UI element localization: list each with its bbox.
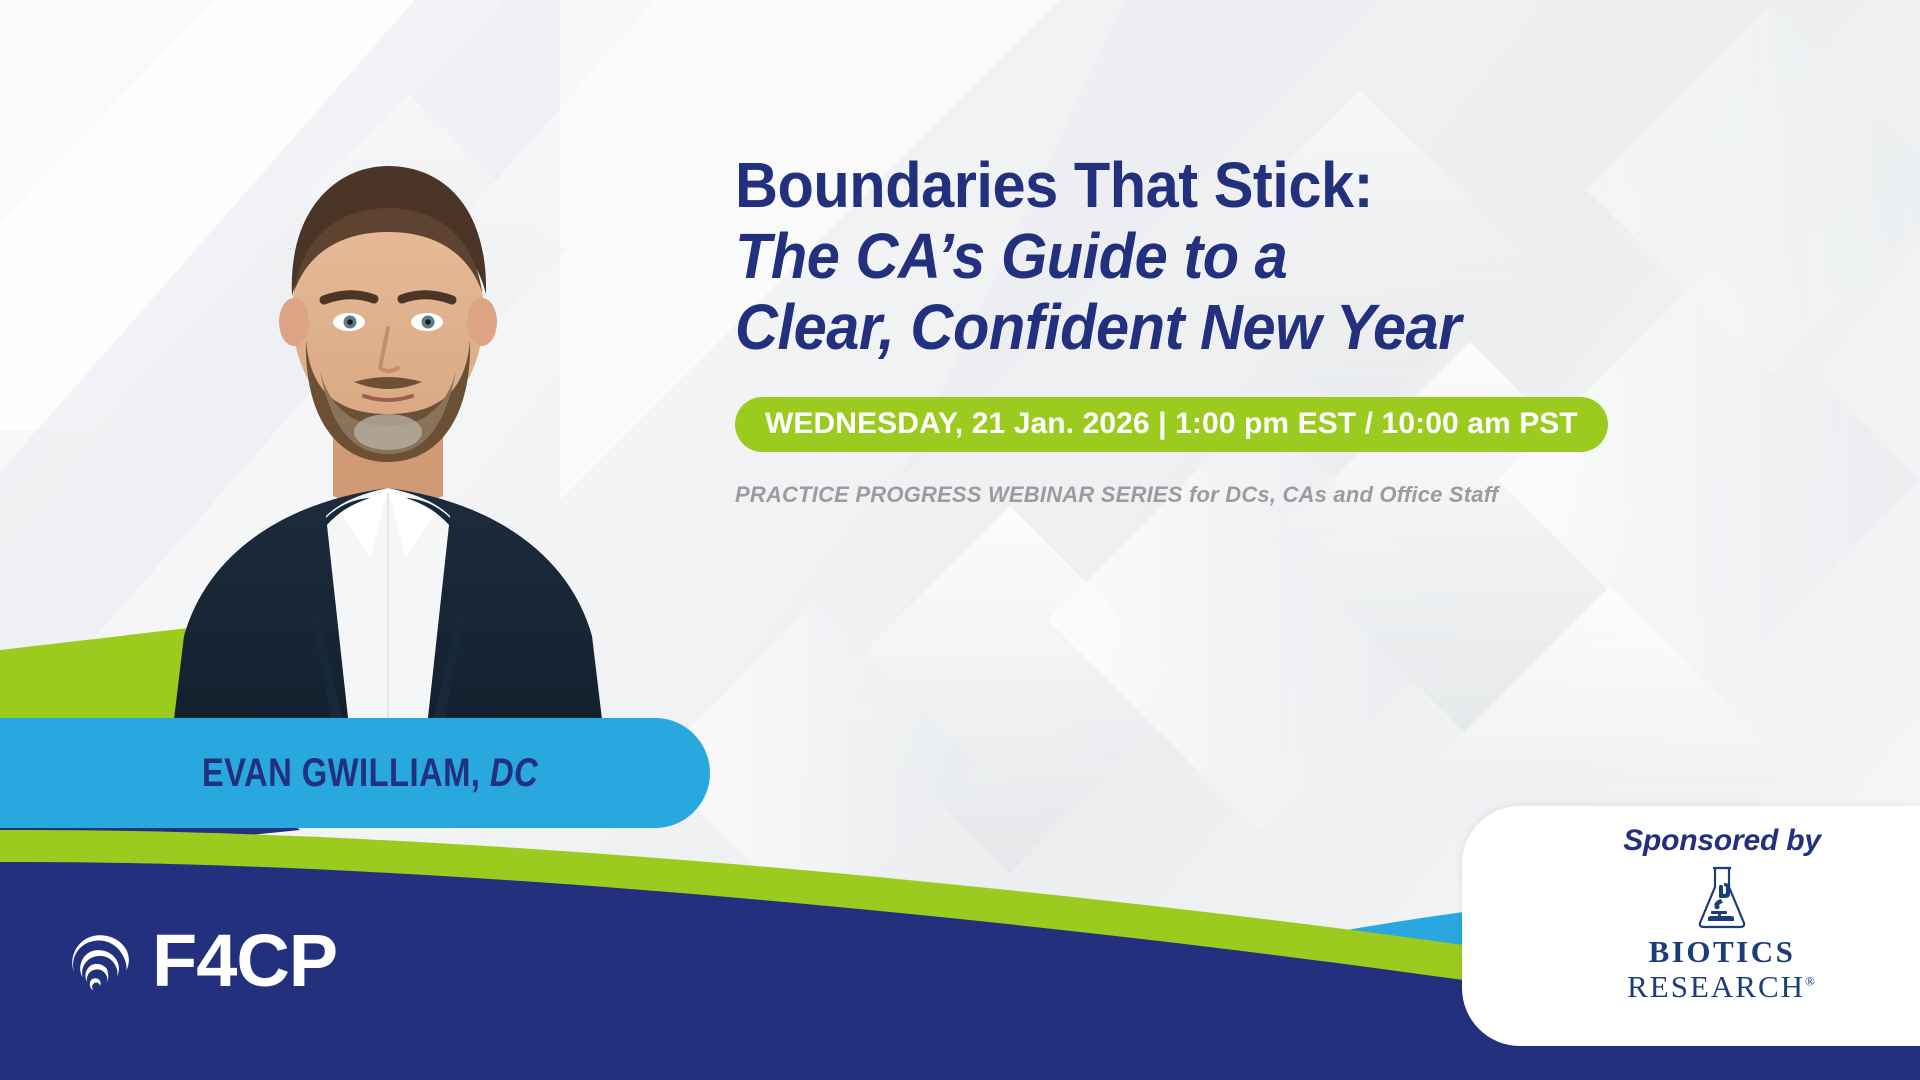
webinar-promo-banner: Boundaries That Stick: The CA’s Guide to…: [0, 0, 1920, 1080]
main-content: Boundaries That Stick: The CA’s Guide to…: [735, 150, 1890, 508]
speaker-name-banner: EVAN GWILLIAM, DC: [0, 718, 710, 828]
speaker-name-text: EVAN GWILLIAM, DC: [202, 751, 538, 796]
flask-microscope-icon: [1694, 865, 1750, 931]
f4cp-wordmark: F4CP: [152, 924, 337, 998]
registered-trademark-symbol: ®: [1805, 973, 1817, 988]
sponsor-brand-line-1: BIOTICS: [1627, 935, 1817, 970]
speaker-photo: [88, 96, 688, 736]
title-line-2: The CA’s Guide to a: [735, 221, 1809, 292]
webinar-series-subtitle: PRACTICE PROGRESS WEBINAR SERIES for DCs…: [735, 482, 1890, 508]
sponsored-by-label: Sponsored by: [1623, 824, 1821, 857]
sponsor-brand-line-2: RESEARCH®: [1627, 970, 1817, 1005]
date-time-badge: WEDNESDAY, 21 Jan. 2026 | 1:00 pm EST / …: [735, 397, 1608, 452]
sponsor-brand-name: BIOTICS RESEARCH®: [1627, 935, 1817, 1004]
page-title: Boundaries That Stick: The CA’s Guide to…: [735, 150, 1890, 363]
speaker-credential: DC: [490, 751, 538, 795]
title-line-1: Boundaries That Stick:: [735, 150, 1809, 221]
f4cp-logo: F4CP: [60, 925, 337, 1003]
f4cp-swirl-icon: [60, 925, 138, 1003]
title-line-3: Clear, Confident New Year: [735, 292, 1809, 363]
speaker-name-value: EVAN GWILLIAM,: [202, 751, 480, 795]
sponsor-card: Sponsored by BIOTICS RESEARCH®: [1462, 806, 1920, 1046]
